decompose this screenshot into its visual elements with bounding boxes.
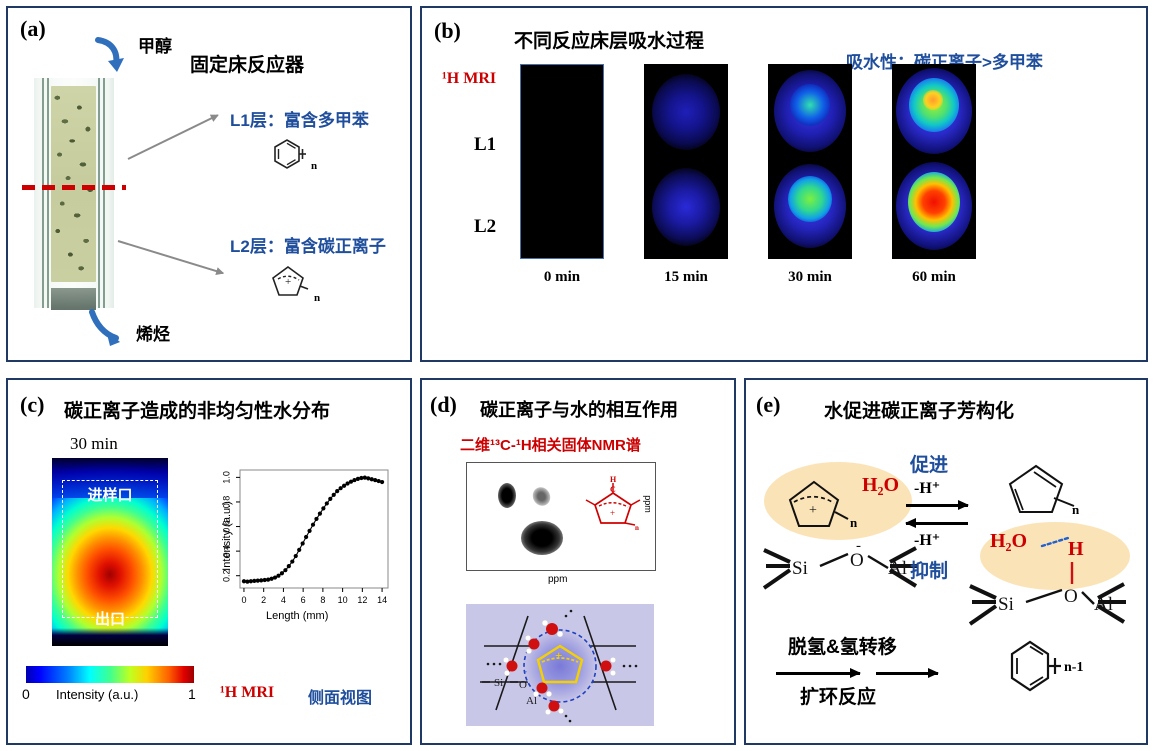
polymethylbenzene-icon (266, 136, 312, 178)
mri-time-15min: 15 min (644, 269, 728, 286)
mri-column-30min: 30 min (768, 64, 852, 259)
zeolite-water-interaction-diagram: + Si O - Al (466, 604, 654, 726)
row-label-l2: L2 (474, 216, 496, 238)
panel-c-image-time: 30 min (70, 434, 118, 454)
inlet-arrow-icon (92, 34, 134, 76)
leader-line-l1 (128, 114, 219, 160)
mri-column-0min: 0 min (520, 64, 604, 259)
svg-text:Si: Si (792, 558, 808, 579)
water-label-left: H₂O (862, 474, 899, 497)
chart-xlabel: Length (mm) (266, 610, 328, 622)
panel-c: (c) 碳正离子造成的非均匀性水分布 30 min 进样口 出口 0 Inten… (6, 378, 412, 745)
technique-label-mri-c: ¹H MRI (220, 684, 274, 702)
svg-text:C: C (610, 485, 616, 494)
panel-d-title: 碳正离子与水的相互作用 (480, 396, 678, 422)
panel-d: (d) 碳正离子与水的相互作用 二维¹³C-¹H相关固体NMR谱 H C + n… (420, 378, 736, 745)
nmr-peak-1 (498, 483, 516, 508)
colorbar-c-min: 0 (22, 686, 30, 702)
panel-e: (e) 水促进碳正离子芳构化 + n H₂O Si O - Al 促进 -H⁺ … (744, 378, 1148, 745)
panel-c-title: 碳正离子造成的非均匀性水分布 (64, 396, 330, 423)
mri-column-15min: 15 min (644, 64, 728, 259)
bottom-reaction-bottom-label: 扩环反应 (800, 682, 876, 709)
bottom-arrow-2 (876, 672, 938, 675)
forward-arrow-label: -H⁺ (914, 478, 940, 498)
mri-time-60min: 60 min (892, 269, 976, 286)
svg-text:O: O (1064, 586, 1078, 607)
panel-d-subtitle: 二维¹³C-¹H相关固体NMR谱 (460, 434, 641, 455)
mri-image-30min (768, 64, 852, 259)
technique-label-mri: ¹H MRI (442, 70, 496, 88)
svg-text:Si: Si (494, 677, 503, 689)
mri-image-15min (644, 64, 728, 259)
outlet-label: 烯烃 (136, 320, 170, 345)
water-label-right: H₂O (990, 530, 1027, 553)
svg-text:12: 12 (357, 595, 367, 605)
svg-text:-: - (524, 666, 527, 676)
colorbar-panel-c (26, 666, 194, 683)
inlet-label: 甲醇 (138, 32, 172, 57)
nmr-peak-2 (530, 484, 554, 509)
panel-d-label: (d) (430, 392, 457, 418)
view-label-side: 侧面视图 (308, 684, 372, 708)
benzene-subscript-n: n (311, 160, 317, 172)
svg-text:8: 8 (320, 595, 325, 605)
row-label-l1: L1 (474, 134, 496, 156)
mri-image-0min (520, 64, 604, 259)
nmr-axis-y-label: ppm (643, 495, 653, 513)
bottom-reaction-top-label: 脱氢&氢转移 (788, 632, 897, 659)
mri-time-30min: 30 min (768, 269, 852, 286)
svg-text:0: 0 (241, 595, 246, 605)
carbenium-structure-red-icon: H C + n (583, 475, 645, 531)
zeolite-site-left-icon: Si O - Al (756, 526, 936, 608)
nmr-2d-spectrum: H C + n ppm (466, 462, 656, 571)
svg-text:Si: Si (998, 594, 1014, 615)
svg-text:+: + (555, 648, 562, 663)
colorbar-c-title: Intensity (a.u.) (56, 687, 138, 702)
svg-text:+: + (809, 503, 817, 518)
mri-image-60min (892, 64, 976, 259)
layer2-label: L2层：富含碳正离子 (230, 232, 386, 257)
svg-text:n: n (635, 524, 639, 531)
panel-b-title: 不同反应床层吸水过程 (514, 26, 704, 53)
panel-b: (b) 不同反应床层吸水过程 吸水性：碳正离子>多甲苯 ¹H MRI L1 L2… (420, 6, 1148, 362)
panel-a-title: 固定床反应器 (190, 50, 304, 77)
nmr-axis-x-label: ppm (548, 574, 567, 585)
svg-text:14: 14 (377, 595, 387, 605)
panel-c-label: (c) (20, 392, 44, 418)
leader-line-l2 (118, 240, 224, 274)
outlet-caption: 出口 (52, 608, 168, 629)
right-subscript-n: n (1072, 502, 1079, 518)
promote-label: 促进 (910, 450, 948, 477)
zeolite-svg: + Si O - Al (466, 604, 654, 726)
nmr-peak-3 (521, 521, 563, 555)
inlet-caption: 进样口 (52, 484, 168, 505)
reverse-arrow-label: -H⁺ (914, 530, 940, 550)
inhibit-label: 抑制 (910, 556, 948, 583)
carbenium-subscript-n: n (314, 292, 320, 304)
layer-divider-dashed-line (22, 185, 126, 190)
zeolite-site-right-icon: Si O Al (962, 558, 1142, 644)
svg-text:1.0: 1.0 (221, 471, 231, 484)
intensity-profile-chart: 02468101214 0.20.40.60.81.0 Length (mm) … (204, 464, 394, 634)
svg-text:-: - (856, 538, 861, 554)
fixed-bed-reactor-photo (34, 78, 114, 308)
chart-ylabel: Intensity (a.u.) (221, 491, 233, 581)
reverse-reaction-arrow (906, 522, 968, 525)
layer1-label: L1层：富含多甲苯 (230, 106, 369, 131)
svg-text:2: 2 (261, 595, 266, 605)
outlet-arrow-icon (86, 308, 130, 350)
panel-b-label: (b) (434, 18, 461, 44)
svg-text:+: + (285, 276, 291, 288)
panel-e-title: 水促进碳正离子芳构化 (824, 396, 1014, 423)
svg-text:H: H (610, 475, 617, 484)
forward-reaction-arrow (906, 504, 968, 507)
svg-text:O: O (519, 679, 527, 691)
cyclopentadiene-right-icon (994, 458, 1086, 530)
carbenium-ion-icon: + (266, 262, 316, 304)
mri-side-view-image: 进样口 出口 (52, 458, 168, 646)
product-subscript-n1: n-1 (1064, 660, 1083, 676)
bottom-arrow-1 (776, 672, 860, 675)
svg-text:4: 4 (281, 595, 286, 605)
panel-e-label: (e) (756, 392, 780, 418)
mri-column-60min: 60 min (892, 64, 976, 259)
colorbar-c-max: 1 (188, 686, 196, 702)
panel-a: (a) 固定床反应器 甲醇 L1层：富含多甲苯 n L2层：富含碳正离子 + n (6, 6, 412, 362)
aromatic-product-icon (998, 636, 1072, 702)
svg-text:+: + (610, 508, 615, 518)
panel-a-label: (a) (20, 16, 46, 42)
svg-text:6: 6 (301, 595, 306, 605)
svg-text:10: 10 (338, 595, 348, 605)
mri-time-0min: 0 min (520, 269, 604, 286)
